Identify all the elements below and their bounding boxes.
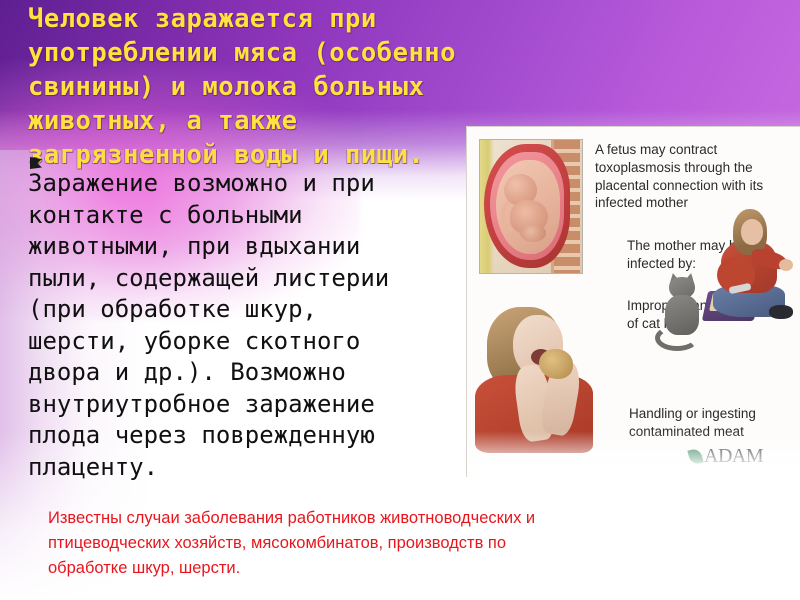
- cat-illustration: [655, 277, 709, 343]
- figure-caption-meat: Handling or ingesting contaminated meat: [629, 405, 789, 441]
- slide-title: Человек заражается при употреблении мяса…: [28, 2, 498, 172]
- body-line: плода через поврежденную: [28, 420, 498, 452]
- woman-hand: [779, 259, 793, 271]
- adam-credit-logo: ADAM: [689, 445, 763, 468]
- figure-caption-fetus: A fetus may contract toxoplasmosis throu…: [595, 141, 800, 212]
- cat-tail: [655, 325, 699, 351]
- body-line: шерсти, уборке скотного: [28, 326, 498, 358]
- title-line: свинины) и молока больных: [28, 70, 498, 104]
- title-line: загрязненной воды и пищи.: [28, 138, 498, 172]
- woman-shoe: [769, 305, 793, 319]
- body-line: Заражение возможно и при: [28, 168, 498, 200]
- slide-body-text: Заражение возможно и при контакте с боль…: [28, 168, 498, 483]
- body-line: животными, при вдыхании: [28, 231, 498, 263]
- slide-footer-note: Известны случаи заболевания работников ж…: [48, 506, 688, 581]
- title-line: употреблении мяса (особенно: [28, 36, 498, 70]
- adam-leaf-icon: [687, 448, 703, 466]
- body-line: внутриутробное заражение: [28, 389, 498, 421]
- footer-line: обработке шкур, шерсти.: [48, 556, 688, 581]
- body-line: контакте с больными: [28, 200, 498, 232]
- body-line: (при обработке шкур,: [28, 294, 498, 326]
- footer-line: птицеводческих хозяйств, мясокомбинатов,…: [48, 531, 688, 556]
- footer-line: Известны случаи заболевания работников ж…: [48, 506, 688, 531]
- body-line: плаценту.: [28, 452, 498, 484]
- body-line: пыли, содержащей листерии: [28, 263, 498, 295]
- toxoplasmosis-figure: A fetus may contract toxoplasmosis throu…: [466, 126, 800, 477]
- fetus-limb: [520, 224, 546, 242]
- adam-wordmark: ADAM: [704, 445, 763, 468]
- pregnant-woman-litter-illustration: [703, 207, 800, 329]
- body-line: двора и др.). Возможно: [28, 357, 498, 389]
- contaminated-meat: [539, 349, 573, 379]
- woman-face: [741, 219, 763, 245]
- presentation-slide: A fetus may contract toxoplasmosis throu…: [0, 0, 800, 600]
- title-line: Человек заражается при: [28, 2, 498, 36]
- title-line: животных, а также: [28, 104, 498, 138]
